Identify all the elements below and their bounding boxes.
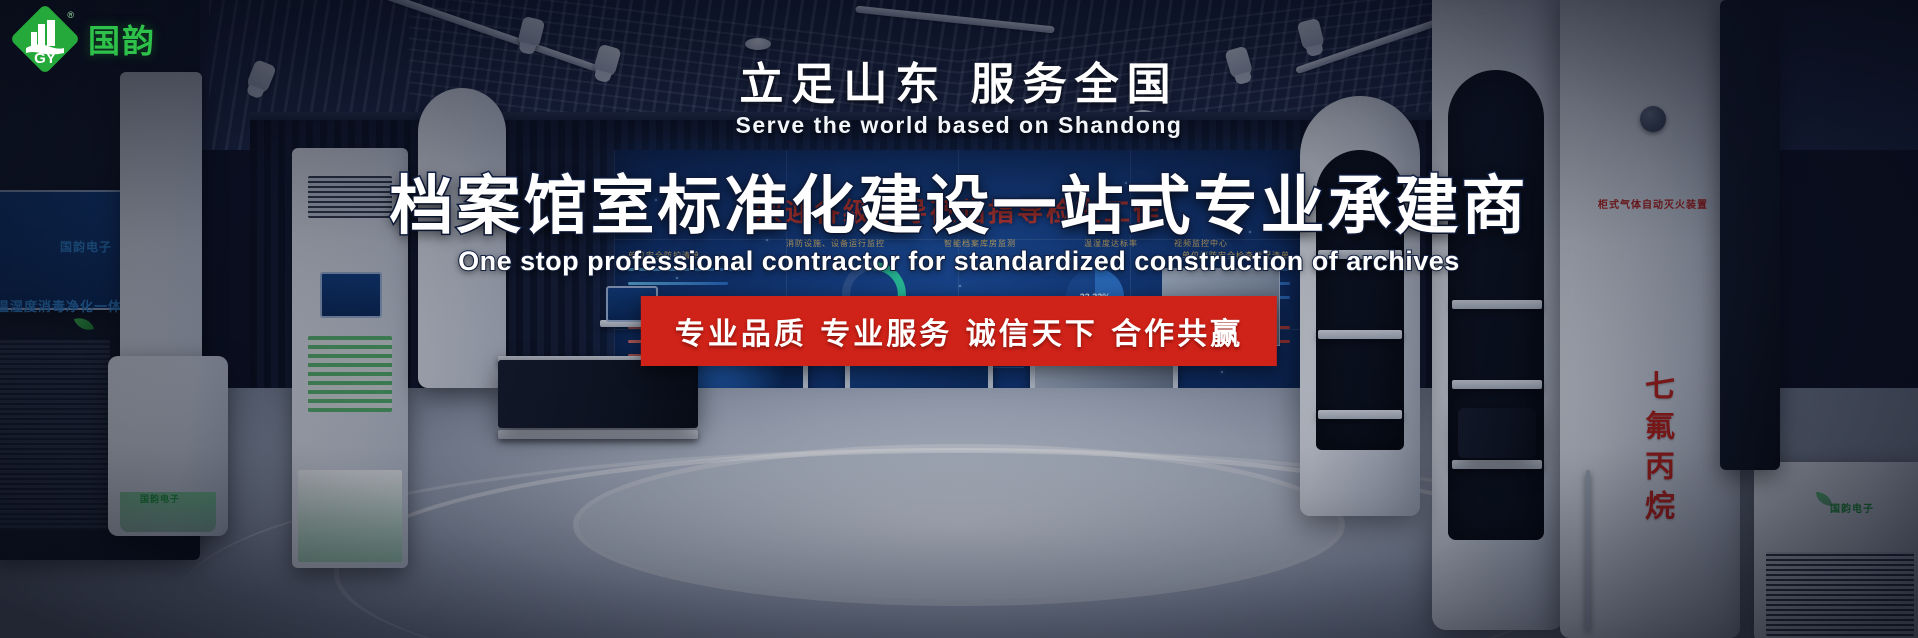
registered-trademark-icon: ® [67, 10, 74, 20]
ahu-control-screen [320, 272, 382, 318]
svg-text:GY: GY [34, 50, 56, 67]
left-mobile-unit-brand: 国韵电子 [140, 492, 180, 505]
hero-cta-button[interactable]: 专业品质 专业服务 诚信天下 合作共赢 [641, 296, 1277, 366]
left-cabinet-vent [0, 340, 110, 530]
right-column-shelf-3 [1318, 410, 1402, 419]
left-shelf-cabinet [498, 360, 698, 428]
right-pod-shelf-3 [1452, 460, 1542, 469]
ahu-led-bar [308, 336, 392, 412]
hero-headline-cn: 档案馆室标准化建设一站式专业承建商 [0, 155, 1918, 247]
hero-subline-en: One stop professional contractor for sta… [0, 246, 1918, 277]
brand-logo[interactable]: GY ® 国韵 [14, 8, 156, 70]
brand-name-cn: 国韵 [88, 16, 156, 62]
fire-cabinet-agent-label: 七氟丙烷 [1634, 370, 1678, 530]
hero-title-en: Serve the world based on Shandong [0, 112, 1918, 139]
right-dehumidifier-vent [1766, 552, 1914, 636]
right-pod-shelf-2 [1452, 380, 1542, 389]
fire-cabinet-door-seam [1586, 470, 1590, 630]
vw-bar-b [628, 282, 728, 285]
hero-banner: 欢迎各级领导莅临指导检查工作 单位安全防护清单 单位消防安全检查情况清单 消防设… [0, 0, 1918, 638]
right-column-shelf-2 [1318, 330, 1402, 339]
right-cabinet-brand: 国韵电子 [1830, 500, 1874, 515]
gy-building-diamond-logo: GY ® [14, 8, 76, 70]
left-cabinet-device-label: 温湿度消毒净化一体机 [0, 296, 136, 315]
left-shelf-2 [498, 430, 698, 439]
right-pod-shelf-1 [1452, 300, 1542, 309]
ahu-bottom-graphic [298, 470, 402, 562]
hero-title-cn: 立足山东 服务全国 [0, 48, 1918, 112]
right-pod-box-1 [1458, 408, 1536, 458]
